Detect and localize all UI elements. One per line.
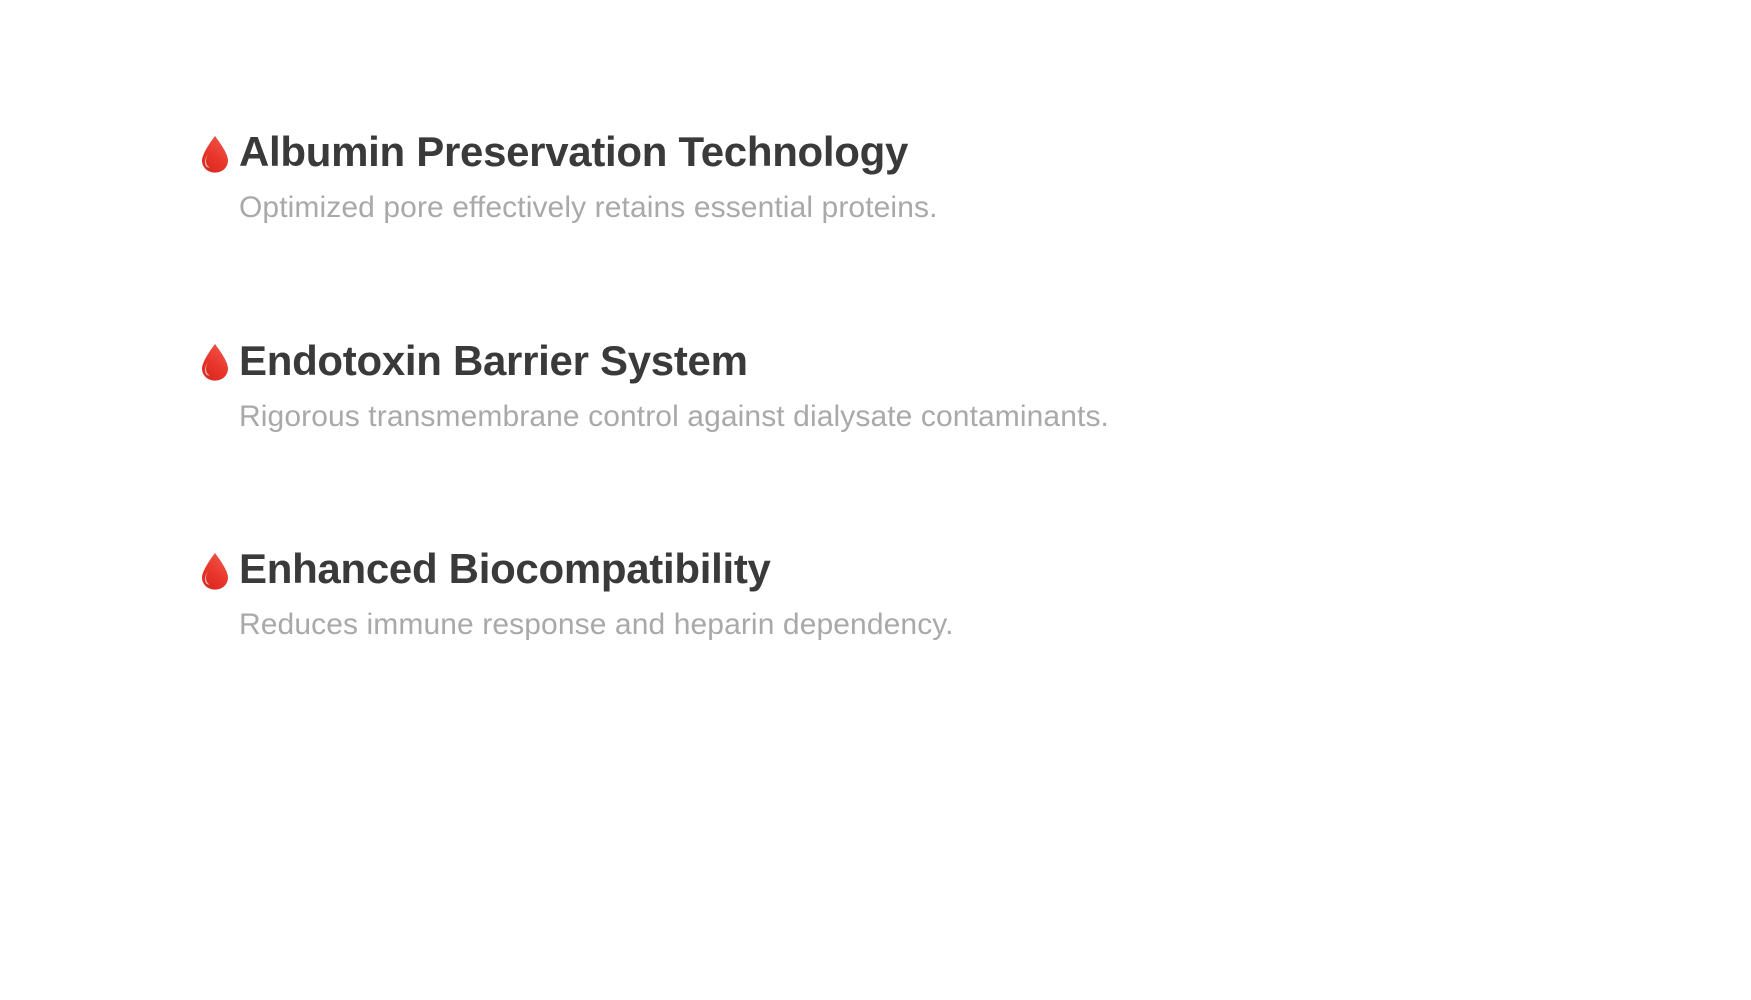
feature-item: Albumin Preservation Technology Optimize…: [200, 128, 1600, 227]
feature-item: Enhanced Biocompatibility Reduces immune…: [200, 545, 1600, 644]
feature-heading: Enhanced Biocompatibility: [239, 545, 771, 592]
feature-subtitle: Reduces immune response and heparin depe…: [239, 606, 1600, 644]
feature-subtitle: Optimized pore effectively retains essen…: [239, 189, 1600, 227]
feature-subtitle: Rigorous transmembrane control against d…: [239, 398, 1600, 436]
feature-heading: Endotoxin Barrier System: [239, 337, 748, 384]
blood-drop-icon: [200, 134, 230, 174]
feature-panel: Albumin Preservation Technology Optimize…: [0, 0, 1751, 1000]
feature-item: Endotoxin Barrier System Rigorous transm…: [200, 337, 1600, 436]
feature-heading-row: Endotoxin Barrier System: [200, 337, 1600, 384]
feature-heading-row: Albumin Preservation Technology: [200, 128, 1600, 175]
blood-drop-icon: [200, 342, 230, 382]
feature-list: Albumin Preservation Technology Optimize…: [200, 128, 1600, 644]
feature-heading: Albumin Preservation Technology: [239, 128, 908, 175]
feature-heading-row: Enhanced Biocompatibility: [200, 545, 1600, 592]
blood-drop-icon: [200, 551, 230, 591]
